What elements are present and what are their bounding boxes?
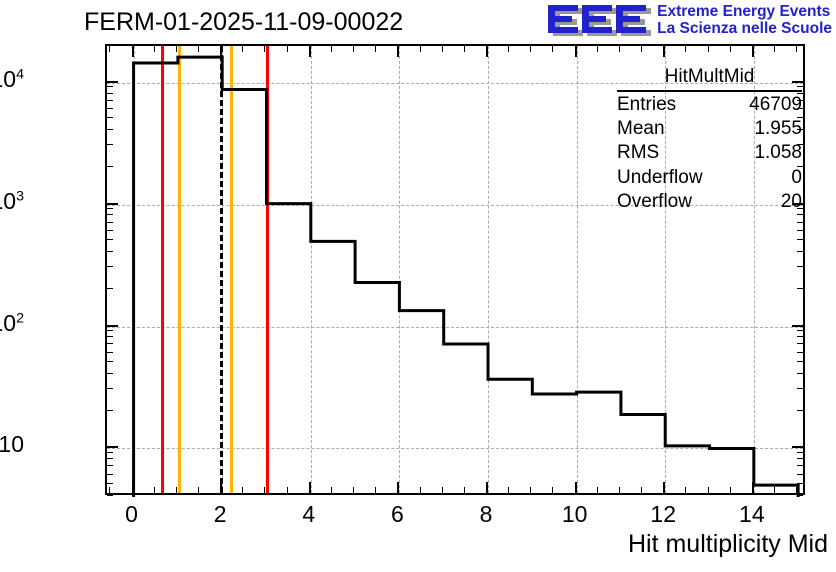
x-tick-minor (597, 487, 598, 493)
x-tick-minor (552, 487, 553, 493)
x-tick-minor (508, 46, 509, 52)
y-tick-minor (797, 230, 803, 231)
y-tick-major (792, 446, 803, 448)
x-tick-minor (708, 487, 709, 493)
y-tick-minor (107, 474, 113, 475)
x-tick-minor (442, 487, 443, 493)
y-tick-minor (107, 251, 113, 252)
x-tick-minor (420, 487, 421, 493)
plot-canvas: FERM-01-2025-11-09-00022 (0, 0, 836, 572)
x-tick-minor (619, 46, 620, 52)
y-tick-minor (797, 214, 803, 215)
x-tick-minor (685, 46, 686, 52)
x-tick-minor (730, 46, 731, 52)
y-tick-minor (797, 452, 803, 453)
x-tick-major (397, 46, 399, 57)
x-tick-minor (109, 487, 110, 493)
stats-value: 0 (791, 166, 802, 189)
x-tick-minor (708, 46, 709, 52)
y-tick-minor (107, 330, 113, 331)
y-tick-minor (107, 266, 113, 267)
y-tick-major (107, 446, 118, 448)
x-tick-major (663, 482, 665, 493)
stats-key: Overflow (617, 190, 692, 213)
x-tick-major (309, 482, 311, 493)
y-tick-minor (107, 465, 113, 466)
x-tick-minor (331, 487, 332, 493)
x-tick-minor (353, 46, 354, 52)
y-tick-minor (797, 288, 803, 289)
y-tick-minor (797, 388, 803, 389)
y-tick-minor (107, 343, 113, 344)
y-axis-tick-label: 103 (0, 188, 24, 215)
x-tick-minor (442, 46, 443, 52)
y-tick-major (107, 203, 118, 205)
y-tick-minor (797, 266, 803, 267)
x-tick-minor (796, 487, 797, 493)
x-tick-major (486, 482, 488, 493)
x-axis-tick-label: 8 (456, 501, 516, 528)
y-tick-minor (107, 239, 113, 240)
x-tick-major (575, 46, 577, 57)
y-tick-minor (797, 239, 803, 240)
x-axis-tick-label: 10 (545, 501, 605, 528)
y-tick-minor (107, 117, 113, 118)
x-tick-minor (641, 46, 642, 52)
eee-logo-mark (545, 2, 653, 42)
x-tick-minor (154, 46, 155, 52)
y-tick-minor (797, 44, 803, 45)
x-axis-title: Hit multiplicity Mid (628, 530, 828, 559)
eee-logo-line1: Extreme Energy Events (657, 4, 832, 21)
y-tick-minor (107, 166, 113, 167)
x-tick-minor (109, 46, 110, 52)
y-tick-minor (107, 222, 113, 223)
y-tick-minor (797, 474, 803, 475)
stats-value: 1.058 (754, 141, 802, 164)
y-tick-minor (797, 330, 803, 331)
x-tick-major (132, 482, 134, 493)
y-tick-minor (107, 458, 113, 459)
x-tick-minor (331, 46, 332, 52)
x-tick-major (752, 46, 754, 57)
y-tick-minor (107, 388, 113, 389)
y-tick-major (792, 325, 803, 327)
x-tick-minor (552, 46, 553, 52)
y-tick-minor (797, 465, 803, 466)
x-tick-minor (287, 487, 288, 493)
stats-rows: Entries46709Mean1.955RMS1.058Underflow0O… (617, 92, 802, 213)
x-tick-minor (619, 487, 620, 493)
y-tick-minor (107, 108, 113, 109)
stats-row: Mean1.955 (617, 116, 802, 140)
y-tick-minor (107, 93, 113, 94)
x-tick-minor (264, 46, 265, 52)
x-tick-major (486, 46, 488, 57)
y-tick-minor (107, 373, 113, 374)
x-tick-minor (375, 46, 376, 52)
y-tick-minor (797, 336, 803, 337)
y-tick-minor (107, 230, 113, 231)
y-tick-major (107, 81, 118, 83)
y-tick-minor (797, 343, 803, 344)
y-tick-minor (107, 288, 113, 289)
page-title: FERM-01-2025-11-09-00022 (84, 8, 403, 37)
x-tick-minor (597, 46, 598, 52)
x-tick-major (132, 46, 134, 57)
x-tick-minor (420, 46, 421, 52)
x-axis-tick-label: 0 (102, 501, 162, 528)
x-tick-minor (198, 487, 199, 493)
x-tick-minor (198, 46, 199, 52)
stats-title: HitMultMid (617, 66, 802, 92)
y-tick-minor (797, 495, 803, 496)
stats-value: 46709 (749, 93, 802, 116)
eee-logo-text: Extreme Energy Events La Scienza nelle S… (657, 2, 832, 37)
x-tick-minor (530, 487, 531, 493)
x-tick-minor (530, 46, 531, 52)
y-tick-minor (797, 410, 803, 411)
y-tick-minor (107, 336, 113, 337)
y-tick-minor (797, 222, 803, 223)
stats-row: Underflow0 (617, 165, 802, 189)
x-tick-minor (353, 487, 354, 493)
y-tick-minor (107, 100, 113, 101)
y-tick-minor (797, 373, 803, 374)
x-tick-minor (774, 46, 775, 52)
y-tick-minor (107, 86, 113, 87)
x-axis-tick-label: 2 (190, 501, 250, 528)
x-tick-minor (730, 487, 731, 493)
stats-key: Mean (617, 117, 665, 140)
y-tick-minor (107, 361, 113, 362)
x-axis-tick-label: 12 (633, 501, 693, 528)
x-tick-minor (287, 46, 288, 52)
x-tick-major (309, 46, 311, 57)
x-tick-major (397, 482, 399, 493)
x-tick-major (220, 46, 222, 57)
x-tick-major (663, 46, 665, 57)
eee-logo-line2: La Scienza nelle Scuole (657, 21, 832, 38)
y-tick-minor (797, 251, 803, 252)
x-tick-minor (685, 487, 686, 493)
y-axis-tick-label: 104 (0, 66, 24, 93)
stats-row: Overflow20 (617, 189, 802, 213)
stats-row: Entries46709 (617, 92, 802, 116)
x-tick-minor (464, 487, 465, 493)
x-tick-minor (264, 487, 265, 493)
x-tick-minor (176, 46, 177, 52)
x-tick-minor (154, 487, 155, 493)
x-tick-minor (242, 46, 243, 52)
y-axis-tick-label: 10 (0, 431, 24, 458)
y-tick-minor (797, 352, 803, 353)
y-tick-minor (107, 410, 113, 411)
y-tick-minor (107, 214, 113, 215)
stats-row: RMS1.058 (617, 140, 802, 164)
y-tick-minor (107, 495, 113, 496)
x-tick-major (220, 482, 222, 493)
x-tick-major (575, 482, 577, 493)
stats-key: Entries (617, 93, 676, 116)
x-tick-minor (176, 487, 177, 493)
y-tick-minor (107, 129, 113, 130)
y-tick-major (107, 325, 118, 327)
stats-key: RMS (617, 141, 659, 164)
x-tick-minor (464, 46, 465, 52)
y-tick-minor (107, 452, 113, 453)
stats-value: 20 (781, 190, 802, 213)
x-tick-minor (242, 487, 243, 493)
stats-box: HitMultMid Entries46709Mean1.955RMS1.058… (617, 66, 802, 213)
y-tick-minor (107, 144, 113, 145)
y-tick-minor (107, 483, 113, 484)
eee-logo: Extreme Energy Events La Scienza nelle S… (545, 2, 832, 44)
stats-value: 1.955 (754, 117, 802, 140)
x-tick-minor (641, 487, 642, 493)
x-tick-major (752, 482, 754, 493)
x-axis-tick-label: 4 (279, 501, 339, 528)
y-tick-minor (797, 361, 803, 362)
x-tick-minor (508, 487, 509, 493)
y-tick-minor (797, 458, 803, 459)
x-tick-minor (796, 46, 797, 52)
y-tick-minor (107, 44, 113, 45)
y-tick-minor (107, 208, 113, 209)
y-tick-minor (107, 352, 113, 353)
stats-key: Underflow (617, 166, 703, 189)
x-tick-minor (774, 487, 775, 493)
x-axis-tick-label: 6 (367, 501, 427, 528)
y-tick-minor (797, 483, 803, 484)
y-axis-tick-label: 102 (0, 310, 24, 337)
x-axis-tick-label: 14 (722, 501, 782, 528)
x-tick-minor (375, 487, 376, 493)
